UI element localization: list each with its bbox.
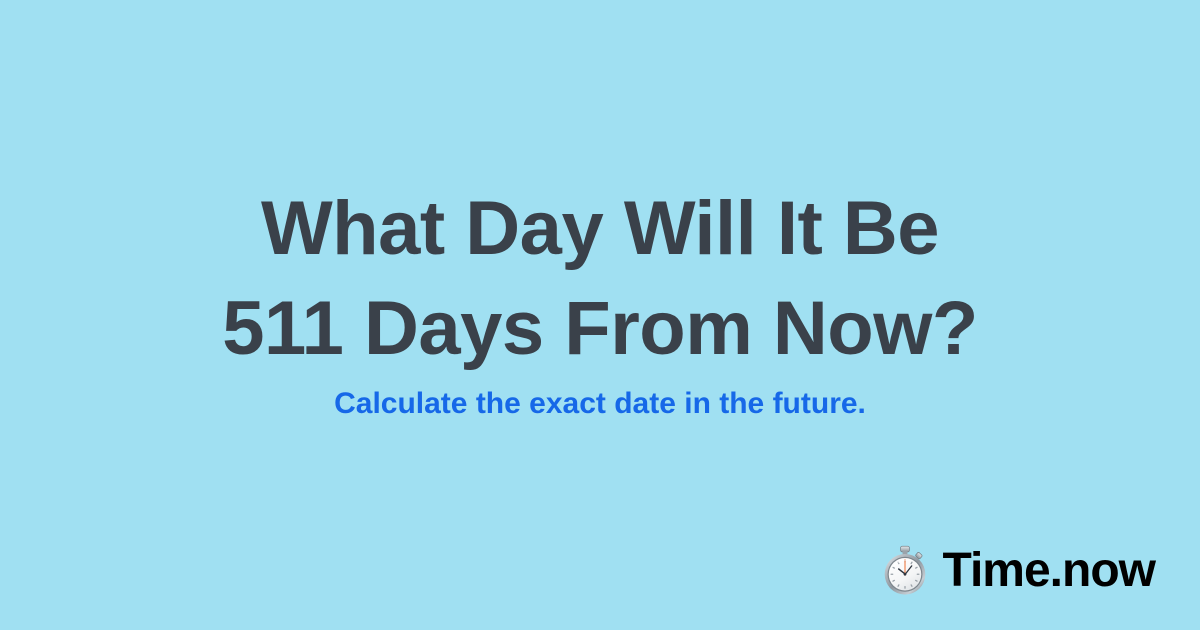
stopwatch-icon	[879, 545, 931, 597]
page-title: What Day Will It Be 511 Days From Now?	[0, 179, 1200, 379]
page-subtitle: Calculate the exact date in the future.	[0, 385, 1200, 423]
page-title-line-1: What Day Will It Be	[0, 179, 1200, 279]
brand-name: Time.now	[943, 545, 1155, 597]
promo-card: What Day Will It Be 511 Days From Now? C…	[0, 0, 1200, 630]
page-title-line-2: 511 Days From Now?	[0, 279, 1200, 379]
brand-logo[interactable]: Time.now	[879, 545, 1155, 597]
